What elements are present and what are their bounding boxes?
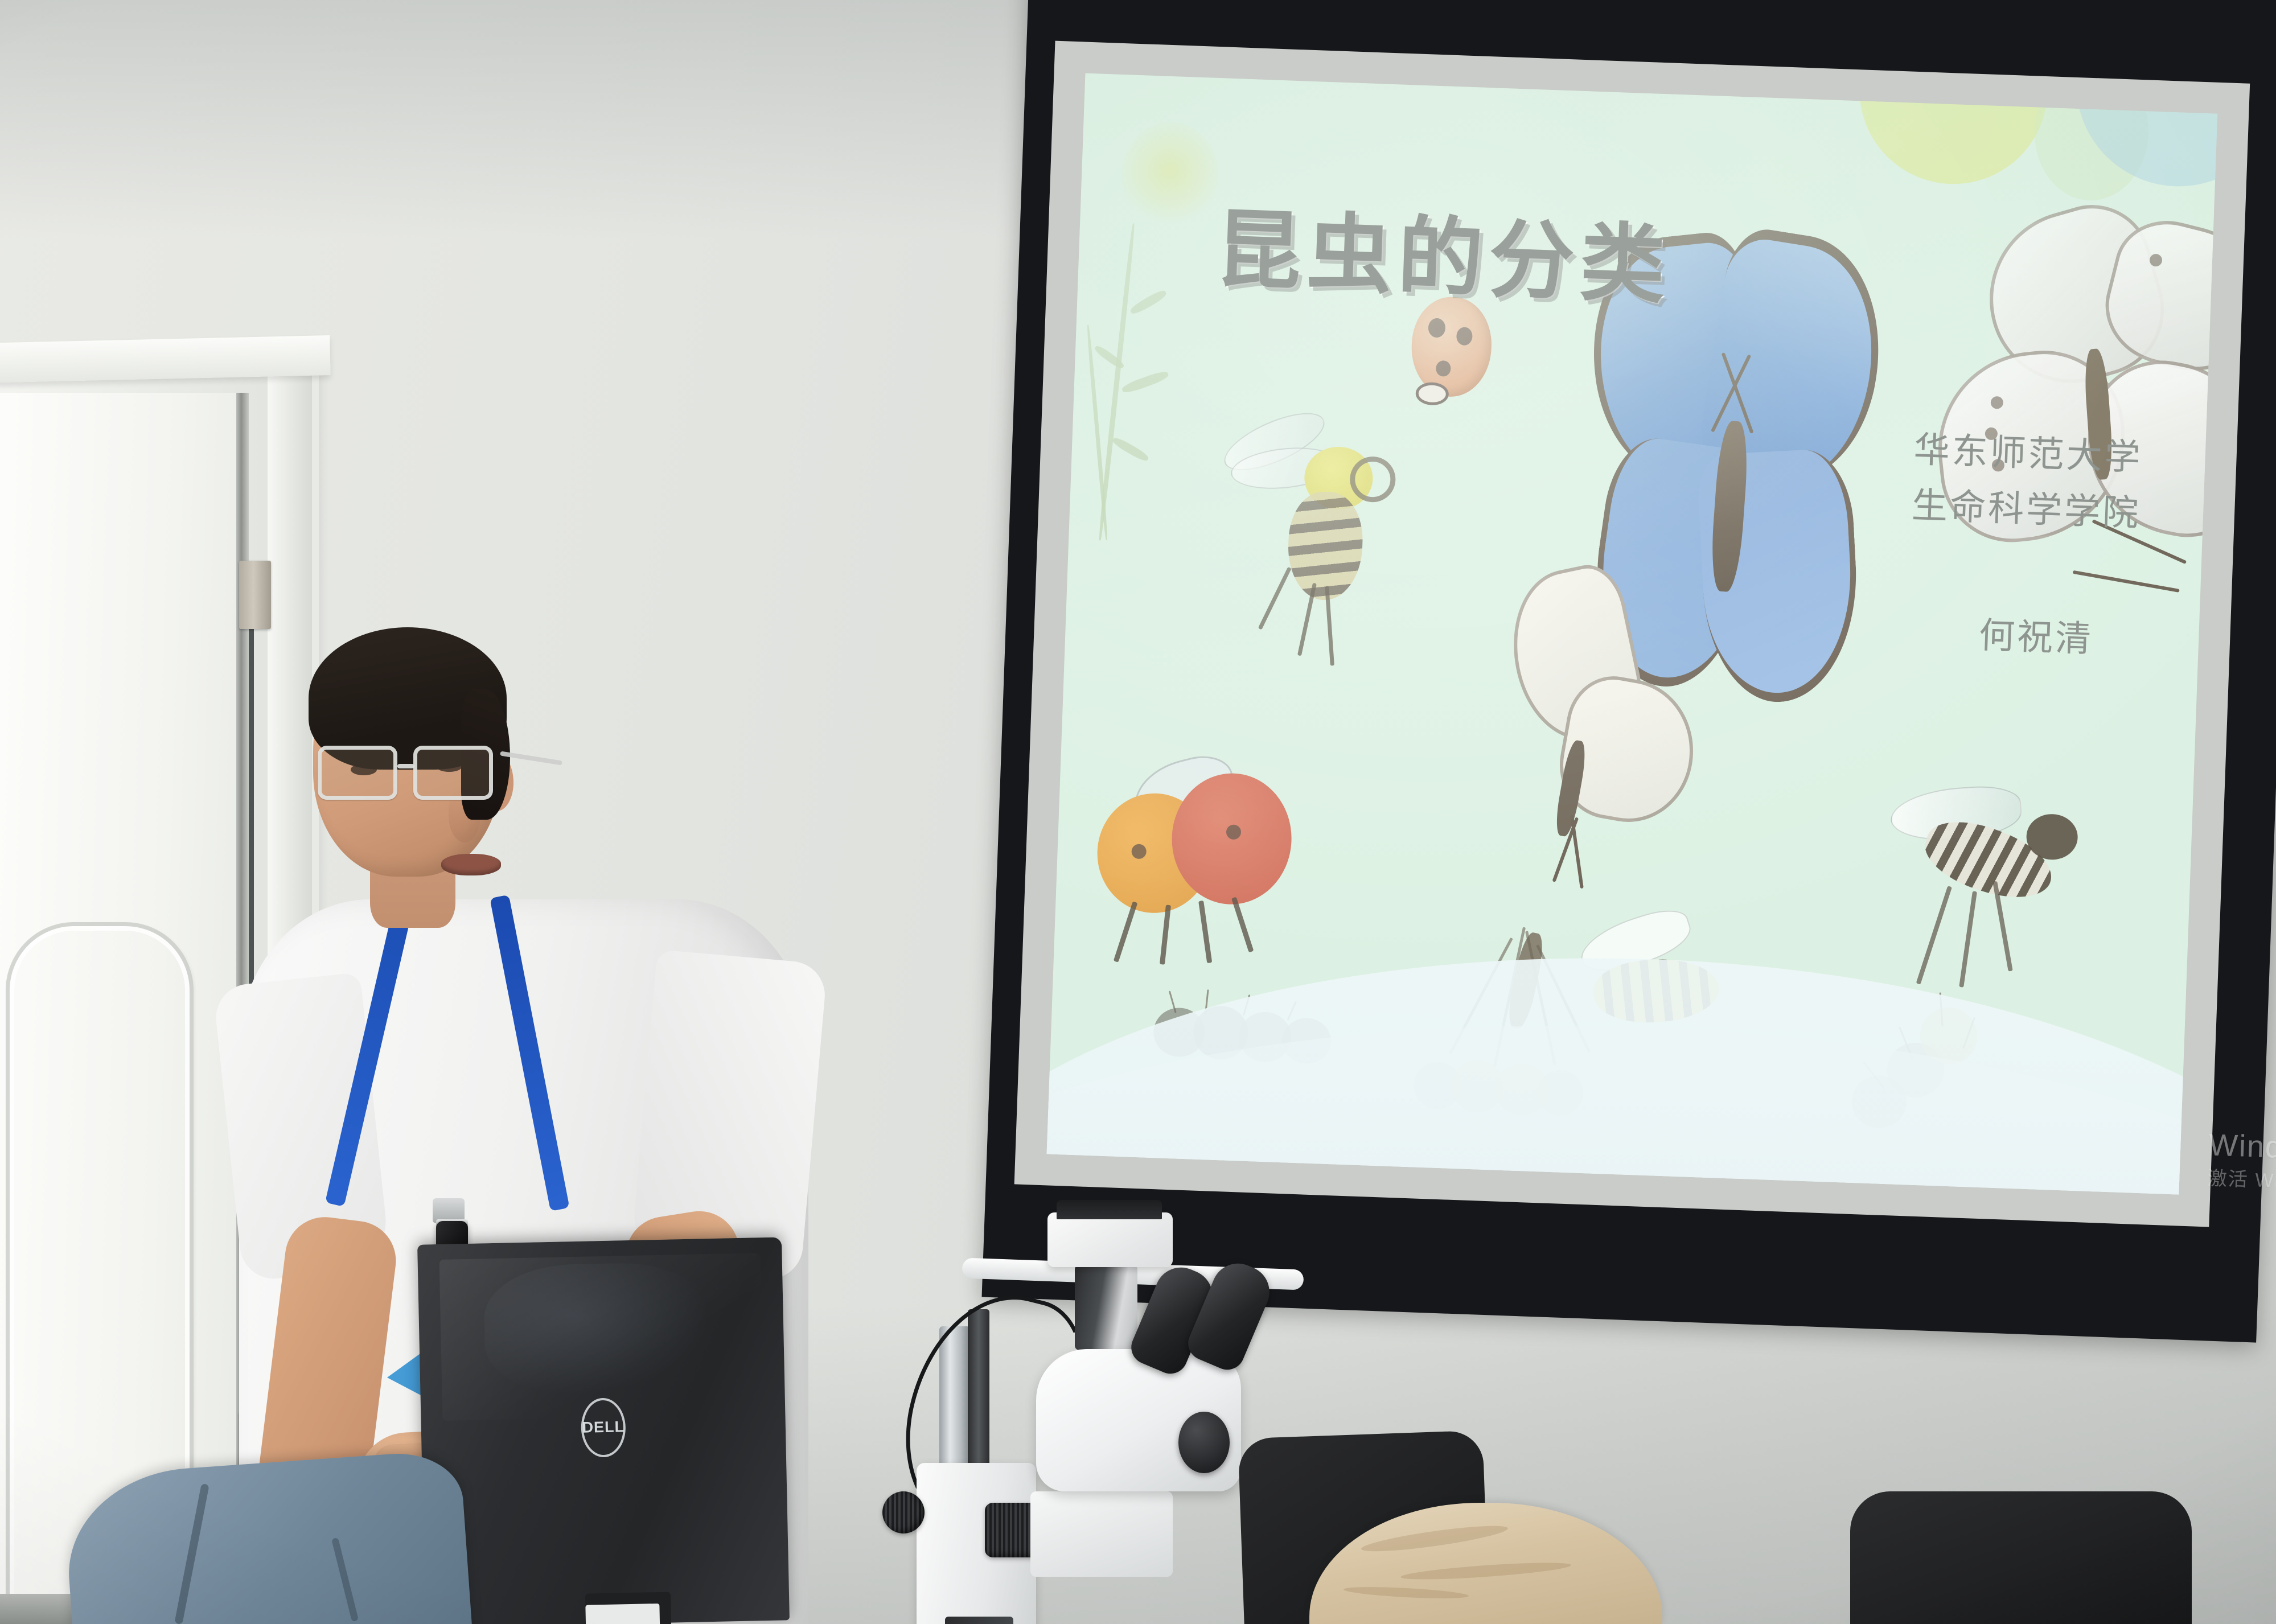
classroom-presentation-photo: Windows 激活 Windows	[0, 0, 2276, 1624]
monitor-label-paper	[585, 1604, 660, 1624]
slide-affiliation-line1: 华东师范大学	[1913, 422, 2143, 486]
white-butterfly-illustration	[1489, 566, 1740, 894]
microscope-arm	[1030, 1491, 1173, 1577]
windows-activation-watermark: Windows 激活 Windows	[2207, 1124, 2276, 1197]
door-casing-top	[0, 335, 331, 383]
projection-screen: Windows 激活 Windows	[982, 0, 2276, 1343]
hoverfly-illustration	[1849, 773, 2102, 1021]
dell-monitor: DELL	[417, 1237, 790, 1624]
glasses-icon	[318, 746, 506, 808]
microscope-camera-coupler	[1075, 1265, 1137, 1350]
projection-screen-surface: Windows 激活 Windows	[1014, 41, 2250, 1227]
bee-illustration	[1235, 421, 1431, 672]
white-panel-door[interactable]	[0, 393, 239, 1624]
yellow-flower-illustration	[1120, 120, 1221, 232]
door-hinge-icon	[239, 561, 271, 629]
grass-stems-illustration	[1074, 108, 1203, 544]
yellow-green-bubble-icon	[1856, 73, 2051, 187]
microscope-zoom-knob[interactable]	[1178, 1412, 1230, 1473]
slide-author: 何祝清	[1978, 606, 2094, 662]
microscope-camera	[1047, 1212, 1173, 1267]
monitor-gloss	[439, 1253, 763, 1420]
microscope-tension-knob[interactable]	[882, 1491, 925, 1533]
black-chair-back-right	[1850, 1491, 2192, 1624]
watermark-title: Windows	[2208, 1128, 2276, 1166]
presenter-mouth	[441, 854, 501, 875]
watermark-subtitle: 激活 Windows	[2207, 1166, 2276, 1197]
orange-beetle-illustration	[1094, 757, 1317, 969]
slide-affiliation: 华东师范大学 生命科学学院	[1911, 422, 2144, 541]
slide-title: 昆虫的分类	[1214, 180, 1673, 320]
presentation-slide: 昆虫的分类 华东师范大学 生命科学学院 何祝清	[1047, 73, 2218, 1195]
microscope-camera-top	[1057, 1200, 1162, 1219]
slide-affiliation-line2: 生命科学学院	[1911, 478, 2142, 541]
microscope-foot	[945, 1617, 1013, 1624]
